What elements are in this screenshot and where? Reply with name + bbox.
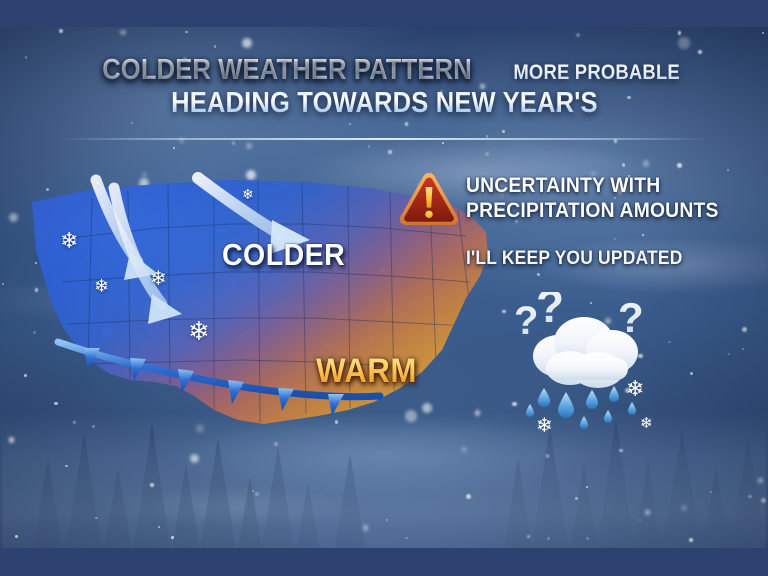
map-label-warm: WARM: [316, 352, 417, 391]
headline-sub-text: MORE PROBABLE: [513, 62, 680, 83]
warning-triangle-icon: [398, 170, 460, 228]
svg-text:❄: ❄: [626, 376, 644, 401]
headline-main-text: COLDER WEATHER PATTERN: [102, 56, 472, 85]
headline-line-2: HEADING TOWARDS NEW YEAR'S: [0, 89, 768, 118]
uncertain-precipitation-icon: ? ? ?: [500, 292, 670, 437]
svg-text:?: ?: [536, 292, 564, 332]
headline-line-1: COLDER WEATHER PATTERNMORE PROBABLE: [0, 56, 768, 85]
advisory-line-1: UNCERTAINTY WITH: [466, 174, 713, 199]
advisory-text: UNCERTAINTY WITH PRECIPITATION AMOUNTS: [466, 174, 734, 223]
advisory-note: I'LL KEEP YOU UPDATED: [466, 248, 683, 270]
letterbox-bar-top: [0, 0, 768, 27]
headline-block: COLDER WEATHER PATTERNMORE PROBABLE HEAD…: [0, 56, 768, 118]
svg-text:❄: ❄: [640, 415, 653, 432]
map-label-colder: COLDER: [222, 237, 345, 273]
headline-divider: [61, 138, 706, 140]
weather-graphic-stage: ❄ ❄ ❄ ❄ ❄ COLDER WARM COLDER WEATHER PAT…: [0, 0, 768, 576]
advisory-line-2: PRECIPITATION AMOUNTS: [466, 199, 713, 224]
headline-secondary-text: HEADING TOWARDS NEW YEAR'S: [171, 89, 598, 118]
svg-text:❄: ❄: [536, 415, 553, 437]
precip-icon-svg: ? ? ?: [500, 292, 670, 437]
svg-text:?: ?: [514, 299, 538, 343]
letterbox-bar-bottom: [0, 548, 768, 576]
